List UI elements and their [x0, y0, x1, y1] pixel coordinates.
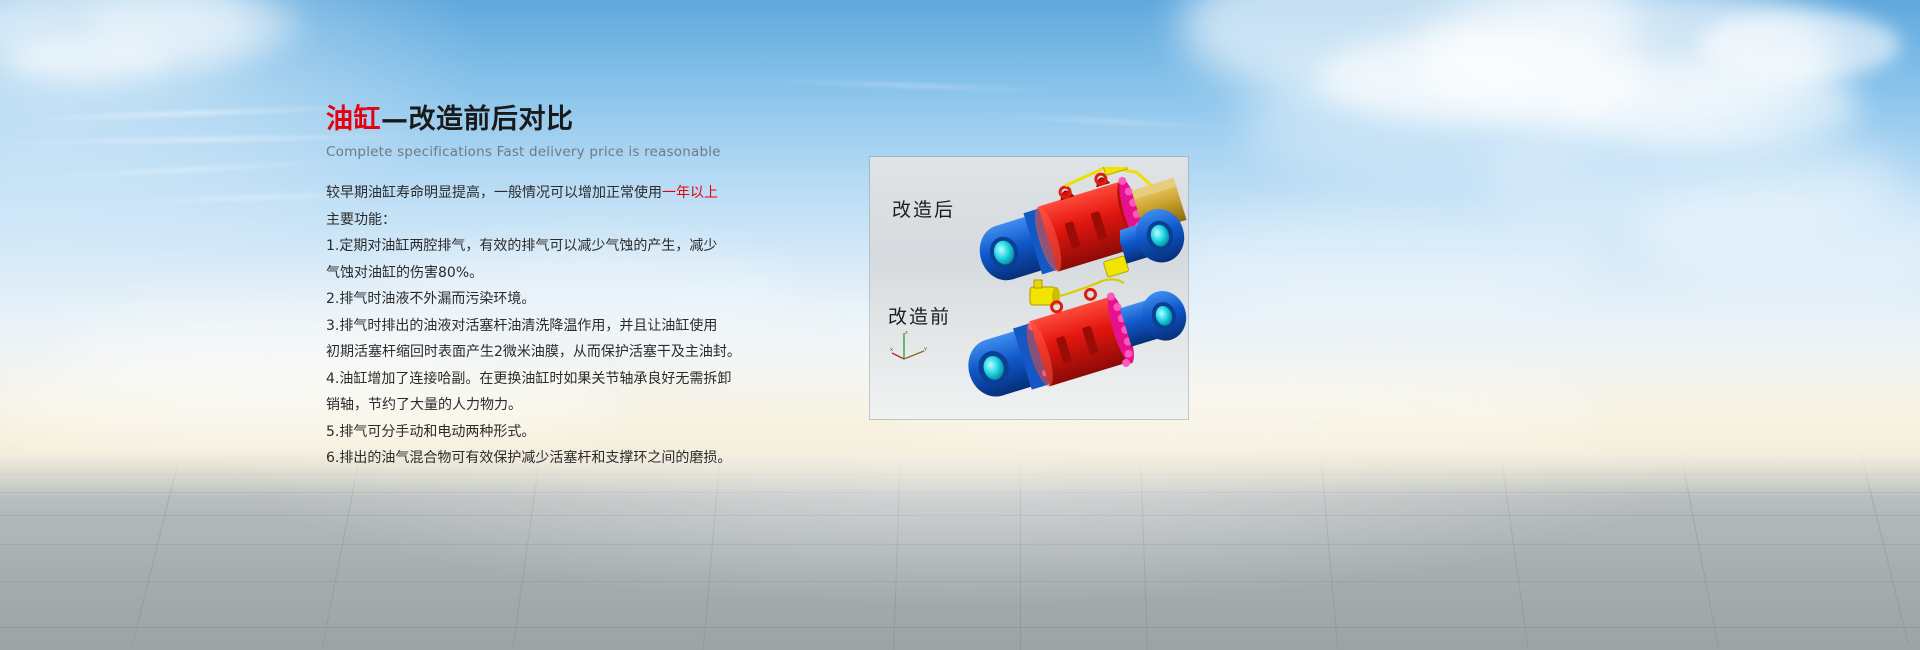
svg-text:x: x [890, 347, 893, 353]
line-text: 4.油缸增加了连接哈副。在更换油缸时如果关节轴承良好无需拆卸 [326, 371, 731, 387]
cloud-streak [980, 113, 1240, 130]
cloud-shape [1700, 10, 1900, 80]
line-text: 2.排气时油液不外漏而污染环境。 [326, 291, 535, 307]
feature-description-list: 较早期油缸寿命明显提高，一般情况可以增加正常使用一年以上 主要功能： 1.定期对… [326, 181, 796, 471]
line-text: 初期活塞杆缩回时表面产生2微米油膜，从而保护活塞干及主油封。 [326, 344, 741, 360]
ground-pavement [0, 452, 1920, 650]
coordinate-axis-icon: z x y [890, 329, 930, 363]
description-line: 2.排气时油液不外漏而污染环境。 [326, 287, 796, 312]
description-line: 5.排气可分手动和电动两种形式。 [326, 420, 796, 445]
line-text: 6.排出的油气混合物可有效保护减少活塞杆和支撑环之间的磨损。 [326, 450, 731, 466]
ground-horizon-haze [0, 452, 1920, 498]
cloud-shape [10, 40, 170, 80]
label-before-modification: 改造前 [888, 302, 951, 329]
svg-text:y: y [924, 346, 927, 352]
line-text: 气蚀对油缸的伤害80%。 [326, 265, 483, 281]
cylinder-render-before [962, 277, 1188, 409]
cloud-shape [1180, 200, 1600, 320]
description-line: 4.油缸增加了连接哈副。在更换油缸时如果关节轴承良好无需拆卸 [326, 367, 796, 392]
description-line: 6.排出的油气混合物可有效保护减少活塞杆和支撑环之间的磨损。 [326, 446, 796, 471]
line-text: 主要功能： [326, 212, 396, 228]
description-line: 3.排气时排出的油液对活塞杆油清洗降温作用，并且让油缸使用 [326, 314, 796, 339]
line-highlight: 一年以上 [662, 185, 718, 201]
description-line: 销轴，节约了大量的人力物力。 [326, 393, 796, 418]
promo-text-block: 油缸—改造前后对比 Complete specifications Fast d… [326, 104, 796, 473]
line-text: 销轴，节约了大量的人力物力。 [326, 397, 522, 413]
line-text: 5.排气可分手动和电动两种形式。 [326, 424, 535, 440]
cloud-shape [1640, 180, 1920, 290]
line-text: 较早期油缸寿命明显提高，一般情况可以增加正常使用 [326, 185, 662, 201]
label-after-modification: 改造后 [892, 195, 955, 222]
title-rest: —改造前后对比 [381, 104, 574, 135]
title-highlight: 油缸 [326, 104, 381, 135]
product-comparison-panel: 改造后 改造前 z x y [870, 157, 1188, 419]
description-line: 主要功能： [326, 208, 796, 233]
line-text: 3.排气时排出的油液对活塞杆油清洗降温作用，并且让油缸使用 [326, 318, 717, 334]
description-line: 初期活塞杆缩回时表面产生2微米油膜，从而保护活塞干及主油封。 [326, 340, 796, 365]
description-line: 1.定期对油缸两腔排气，有效的排气可以减少气蚀的产生，减少 [326, 234, 796, 259]
line-text: 1.定期对油缸两腔排气，有效的排气可以减少气蚀的产生，减少 [326, 238, 717, 254]
page-title: 油缸—改造前后对比 [326, 104, 796, 136]
svg-text:z: z [905, 330, 908, 336]
description-line: 较早期油缸寿命明显提高，一般情况可以增加正常使用一年以上 [326, 181, 796, 206]
cloud-streak [760, 79, 1060, 92]
promo-banner: 油缸—改造前后对比 Complete specifications Fast d… [0, 0, 1920, 650]
page-subtitle: Complete specifications Fast delivery pr… [326, 144, 796, 160]
cylinder-after-rod-eye [1120, 197, 1188, 275]
description-line: 气蚀对油缸的伤害80%。 [326, 261, 796, 286]
